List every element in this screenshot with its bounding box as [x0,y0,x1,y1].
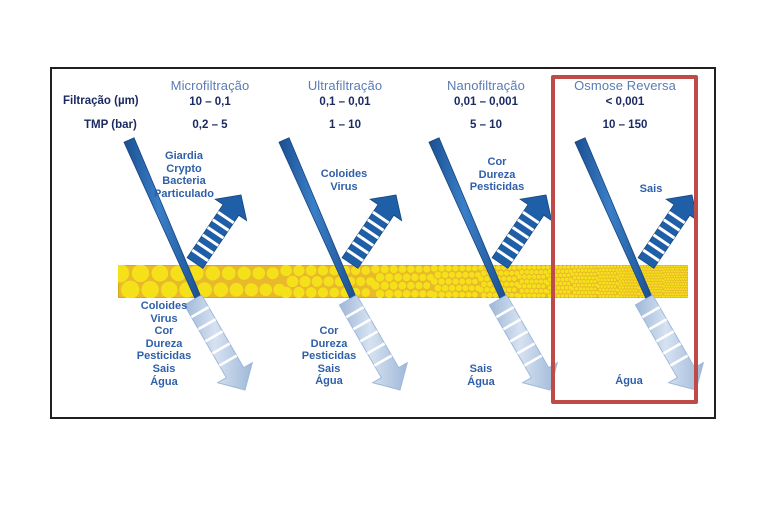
species-item: Água [302,375,356,388]
species-item: Coloides [137,300,191,313]
species-item: Bacteria [154,175,214,188]
column-filtration-value: 0,01 – 0,001 [406,96,566,108]
species-item: Dureza [470,169,524,182]
row-label-tmp: TMP (bar) [84,119,137,131]
permeate-species-reverse-osmosis: Água [615,375,643,388]
species-item: Particulado [154,188,214,201]
column-header-nanofiltration: Nanofiltração 0,01 – 0,001 [406,78,566,108]
rejected-species-nanofiltration: CorDurezaPesticidas [470,156,524,194]
column-tmp-value-nanofiltration: 5 – 10 [406,119,566,131]
column-header-reverse-osmosis: Osmose Reversa < 0,001 [545,78,705,108]
species-item: Pesticidas [137,350,191,363]
species-item: Cor [137,325,191,338]
diagram-canvas: Filtração (µm) TMP (bar) Microfiltração … [0,0,768,512]
species-item: Água [467,376,495,389]
column-tmp-value-ultrafiltration: 1 – 10 [265,119,425,131]
species-item: Sais [302,363,356,376]
species-item: Virus [137,313,191,326]
column-title: Nanofiltração [406,78,566,93]
species-item: Coloides [321,168,367,181]
species-item: Crypto [154,163,214,176]
species-item: Sais [137,363,191,376]
species-item: Dureza [137,338,191,351]
species-item: Virus [321,181,367,194]
rejected-species-ultrafiltration: ColoidesVirus [321,168,367,193]
column-header-ultrafiltration: Ultrafiltração 0,1 – 0,01 [265,78,425,108]
column-tmp-value-reverse-osmosis: 10 – 150 [545,119,705,131]
species-item: Pesticidas [470,181,524,194]
species-item: Cor [302,325,356,338]
permeate-species-nanofiltration: SaisÁgua [467,363,495,388]
species-item: Água [615,375,643,388]
species-item: Giardia [154,150,214,163]
column-filtration-value: < 0,001 [545,96,705,108]
species-item: Dureza [302,338,356,351]
species-item: Cor [470,156,524,169]
permeate-species-microfiltration: ColoidesVirusCorDurezaPesticidasSaisÁgua [137,300,191,388]
species-item: Sais [467,363,495,376]
column-title: Ultrafiltração [265,78,425,93]
row-label-filtration: Filtração (µm) [63,95,139,107]
column-filtration-value: 0,1 – 0,01 [265,96,425,108]
species-item: Sais [640,183,663,196]
permeate-species-ultrafiltration: CorDurezaPesticidasSaisÁgua [302,325,356,388]
rejected-species-reverse-osmosis: Sais [640,183,663,196]
rejected-species-microfiltration: GiardiaCryptoBacteriaParticulado [154,150,214,200]
species-item: Água [137,376,191,389]
species-item: Pesticidas [302,350,356,363]
column-title: Osmose Reversa [545,78,705,93]
